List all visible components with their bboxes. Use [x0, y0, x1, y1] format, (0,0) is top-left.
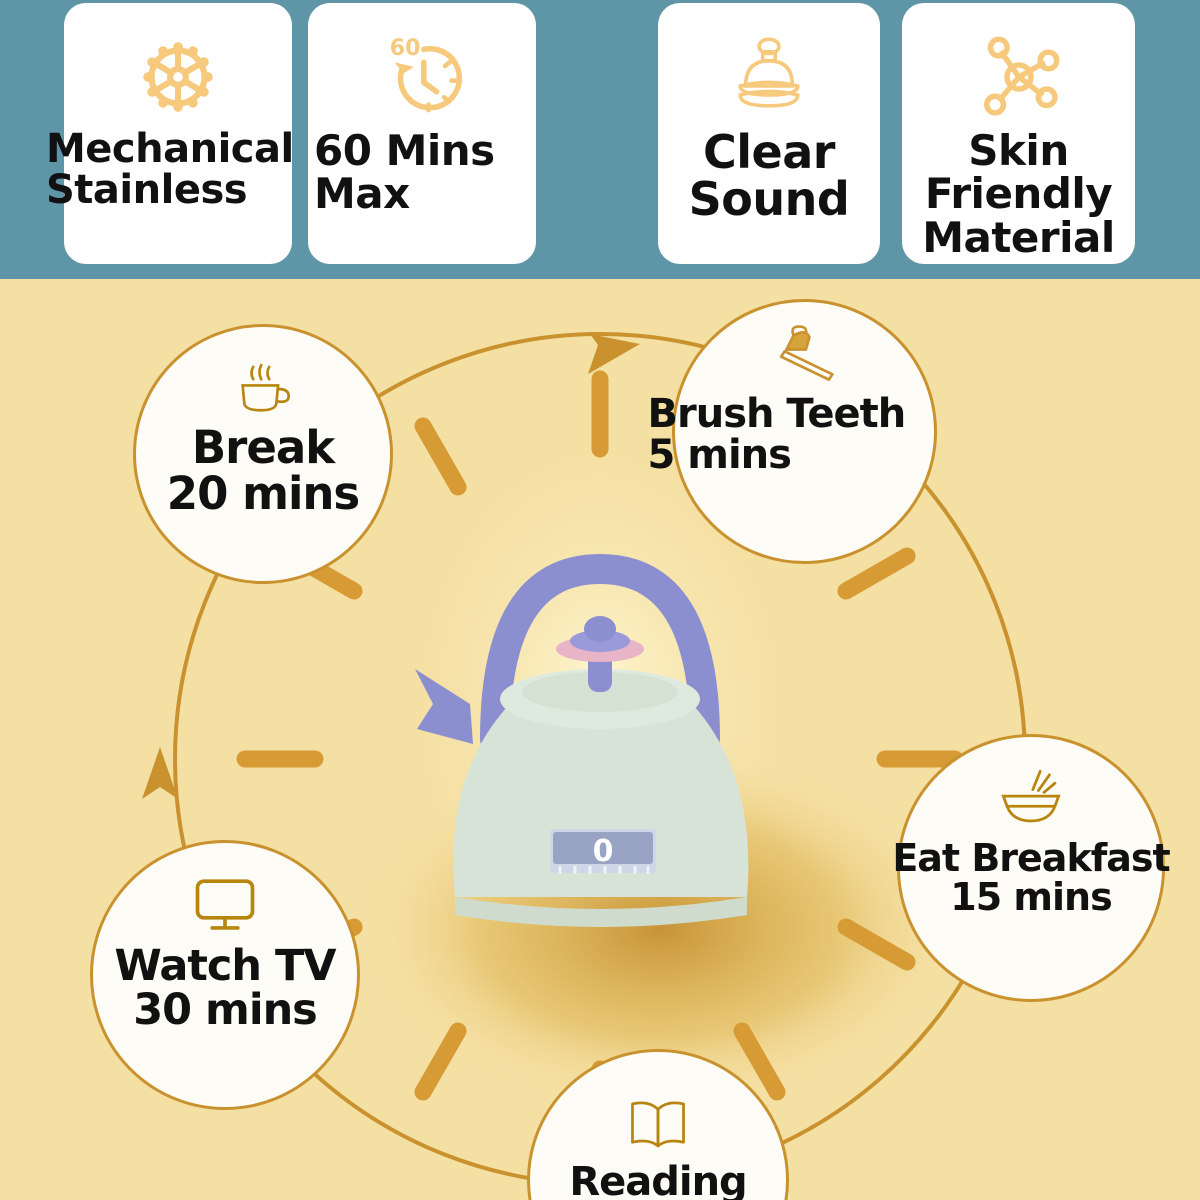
- timer-display-value: 0: [593, 834, 614, 869]
- open-book-icon: [627, 1094, 689, 1154]
- bubble-label: Reading 50 mins: [508, 1162, 808, 1200]
- feature-card-mechanical-stainless[interactable]: Mechanical Stainless: [64, 3, 292, 264]
- bubble-label: Watch TV 30 mins: [75, 945, 375, 1033]
- schedule-bubble-watch-tv[interactable]: Watch TV 30 mins: [90, 840, 360, 1110]
- toothbrush-icon: [767, 324, 843, 384]
- kettle-timer-product: 0: [395, 529, 805, 949]
- infographic-page: Mechanical Stainless 60 60 Mins Max: [0, 0, 1200, 1200]
- svg-text:60: 60: [390, 36, 421, 61]
- bubble-label: Brush Teeth 5 mins: [648, 394, 968, 476]
- television-icon: [192, 875, 258, 935]
- molecule-icon: [902, 29, 1135, 125]
- schedule-bubble-eat-breakfast[interactable]: Eat Breakfast 15 mins: [897, 734, 1165, 1002]
- feature-card-label: 60 Mins Max: [314, 129, 554, 216]
- feature-card-60-mins-max[interactable]: 60 60 Mins Max: [308, 3, 536, 264]
- bubble-label: Break 20 mins: [113, 425, 413, 517]
- schedule-bubble-brush-teeth[interactable]: Brush Teeth 5 mins: [672, 299, 937, 564]
- coffee-cup-icon: [232, 359, 294, 419]
- feature-card-label: Mechanical Stainless: [46, 129, 296, 211]
- gear-icon: [64, 29, 292, 125]
- feature-card-label: Skin Friendly Material: [874, 129, 1164, 259]
- schedule-bubble-break[interactable]: Break 20 mins: [133, 324, 393, 584]
- bell-icon: [658, 29, 880, 125]
- clock-60-icon: 60: [308, 29, 536, 125]
- bubble-label: Eat Breakfast 15 mins: [871, 839, 1191, 917]
- noodle-bowl-icon: [996, 767, 1066, 827]
- feature-banner: Mechanical Stainless 60 60 Mins Max: [0, 0, 1200, 279]
- feature-card-skin-friendly-material[interactable]: Skin Friendly Material: [902, 3, 1135, 264]
- feature-card-clear-sound[interactable]: Clear Sound: [658, 3, 880, 264]
- clock-schedule-area: 0 Break 20 mins: [0, 279, 1200, 1200]
- feature-card-label: Clear Sound: [689, 129, 850, 224]
